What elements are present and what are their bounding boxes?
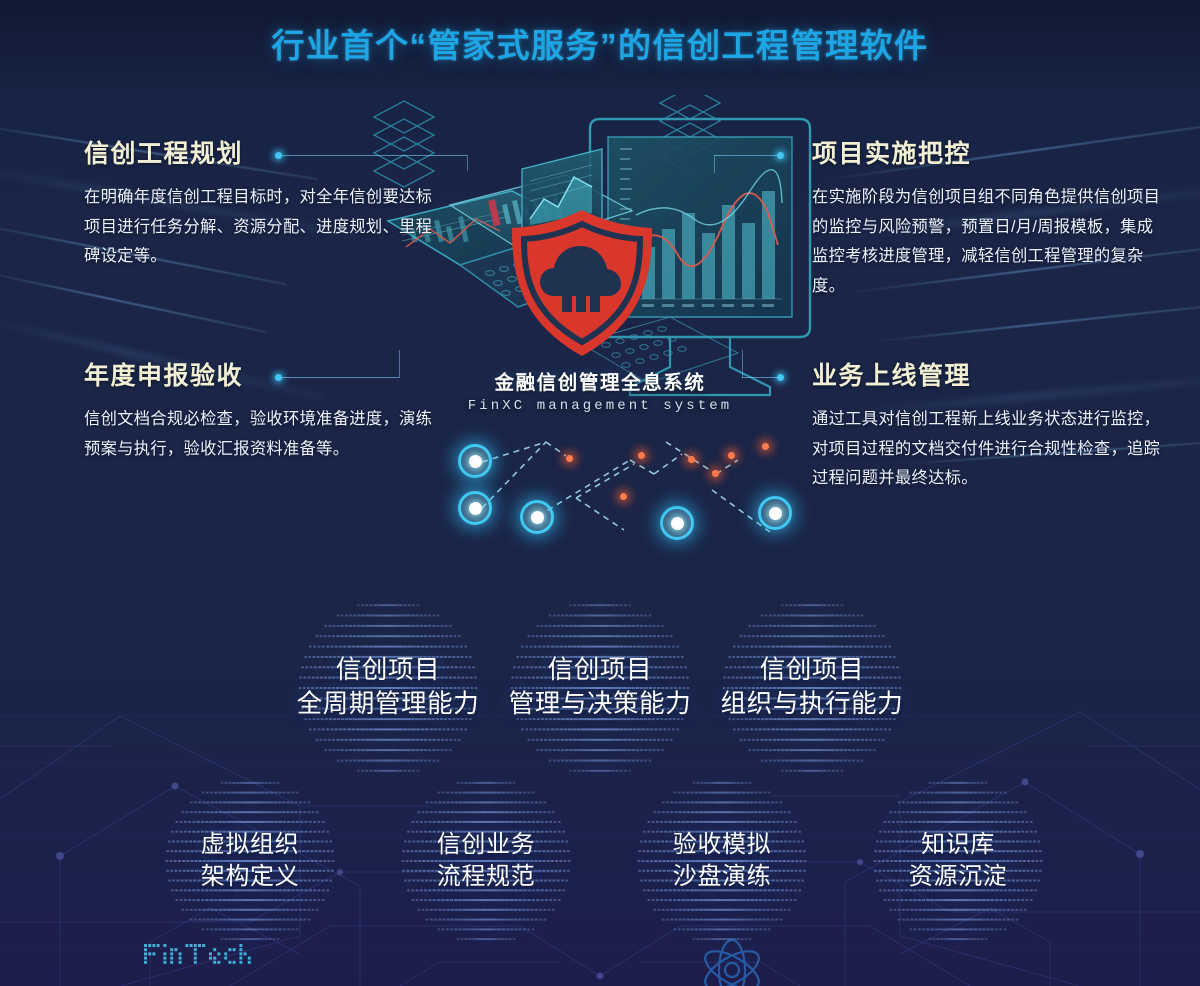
capability-sphere-full-lifecycle: 信创项目 全周期管理能力 bbox=[288, 598, 488, 778]
feature-heading: 信创工程规划 bbox=[84, 134, 444, 170]
feature-block-business-golive: 业务上线管理 通过工具对信创工程新上线业务状态进行监控，对项目过程的文档交付件进… bbox=[812, 356, 1162, 494]
center-system-label: 金融信创管理全息系统 FinXC management system bbox=[395, 366, 805, 414]
sphere-label: 验收模拟 沙盘演练 bbox=[673, 829, 771, 893]
node-dashed-links bbox=[420, 420, 840, 550]
shield-cloud-chart-icon bbox=[512, 210, 652, 356]
center-label-cn: 金融信创管理全息系统 bbox=[395, 366, 805, 395]
sphere-label: 知识库 资源沉淀 bbox=[909, 829, 1007, 893]
network-node bbox=[660, 506, 694, 540]
capability-sphere-management-decision: 信创项目 管理与决策能力 bbox=[500, 598, 700, 778]
feature-heading: 项目实施把控 bbox=[812, 134, 1162, 170]
network-node bbox=[520, 500, 554, 534]
sphere-label: 信创项目 组织与执行能力 bbox=[721, 654, 904, 722]
capability-sphere-knowledge-base: 知识库 资源沉淀 bbox=[868, 776, 1048, 946]
feature-heading: 业务上线管理 bbox=[812, 356, 1162, 392]
network-accent-dot bbox=[566, 455, 573, 462]
capability-sphere-business-process: 信创业务 流程规范 bbox=[396, 776, 576, 946]
sphere-label: 信创项目 全周期管理能力 bbox=[297, 654, 480, 722]
sphere-label: 信创业务 流程规范 bbox=[437, 829, 535, 893]
network-accent-dot bbox=[688, 456, 695, 463]
network-accent-dot bbox=[762, 443, 769, 450]
atom-orbit-icon bbox=[690, 932, 774, 986]
fintech-dotted-wordmark bbox=[144, 936, 334, 980]
sphere-label: 信创项目 管理与决策能力 bbox=[509, 654, 692, 722]
feature-body: 在明确年度信创工程目标时，对全年信创要达标项目进行任务分解、资源分配、进度规划、… bbox=[84, 183, 444, 272]
network-node bbox=[458, 491, 492, 525]
network-node bbox=[758, 496, 792, 530]
network-accent-dot bbox=[712, 470, 719, 477]
feature-heading: 年度申报验收 bbox=[84, 356, 444, 392]
capability-sphere-org-execution: 信创项目 组织与执行能力 bbox=[712, 598, 912, 778]
sphere-label: 虚拟组织 架构定义 bbox=[201, 829, 299, 893]
network-accent-dot bbox=[728, 452, 735, 459]
poster-canvas: 行业首个“管家式服务”的信创工程管理软件 bbox=[0, 0, 1200, 986]
network-accent-dot bbox=[638, 452, 645, 459]
feature-body: 通过工具对信创工程新上线业务状态进行监控，对项目过程的文档交付件进行合规性检查，… bbox=[812, 405, 1162, 494]
network-accent-dot bbox=[620, 493, 627, 500]
capability-sphere-acceptance-simulation: 验收模拟 沙盘演练 bbox=[632, 776, 812, 946]
feature-block-implementation: 项目实施把控 在实施阶段为信创项目组不同角色提供信创项目的监控与风险预警，预置日… bbox=[812, 134, 1162, 302]
feature-block-annual-acceptance: 年度申报验收 信创文档合规必检查，验收环境准备进度，演练预案与执行，验收汇报资料… bbox=[84, 356, 444, 464]
feature-block-planning: 信创工程规划 在明确年度信创工程目标时，对全年信创要达标项目进行任务分解、资源分… bbox=[84, 134, 444, 272]
feature-body: 信创文档合规必检查，验收环境准备进度，演练预案与执行，验收汇报资料准备等。 bbox=[84, 405, 444, 464]
capability-sphere-virtual-org: 虚拟组织 架构定义 bbox=[160, 776, 340, 946]
page-title: 行业首个“管家式服务”的信创工程管理软件 bbox=[0, 19, 1200, 67]
network-node bbox=[458, 444, 492, 478]
center-label-en: FinXC management system bbox=[395, 398, 805, 414]
feature-body: 在实施阶段为信创项目组不同角色提供信创项目的监控与风险预警，预置日/月/周报模板… bbox=[812, 183, 1162, 302]
